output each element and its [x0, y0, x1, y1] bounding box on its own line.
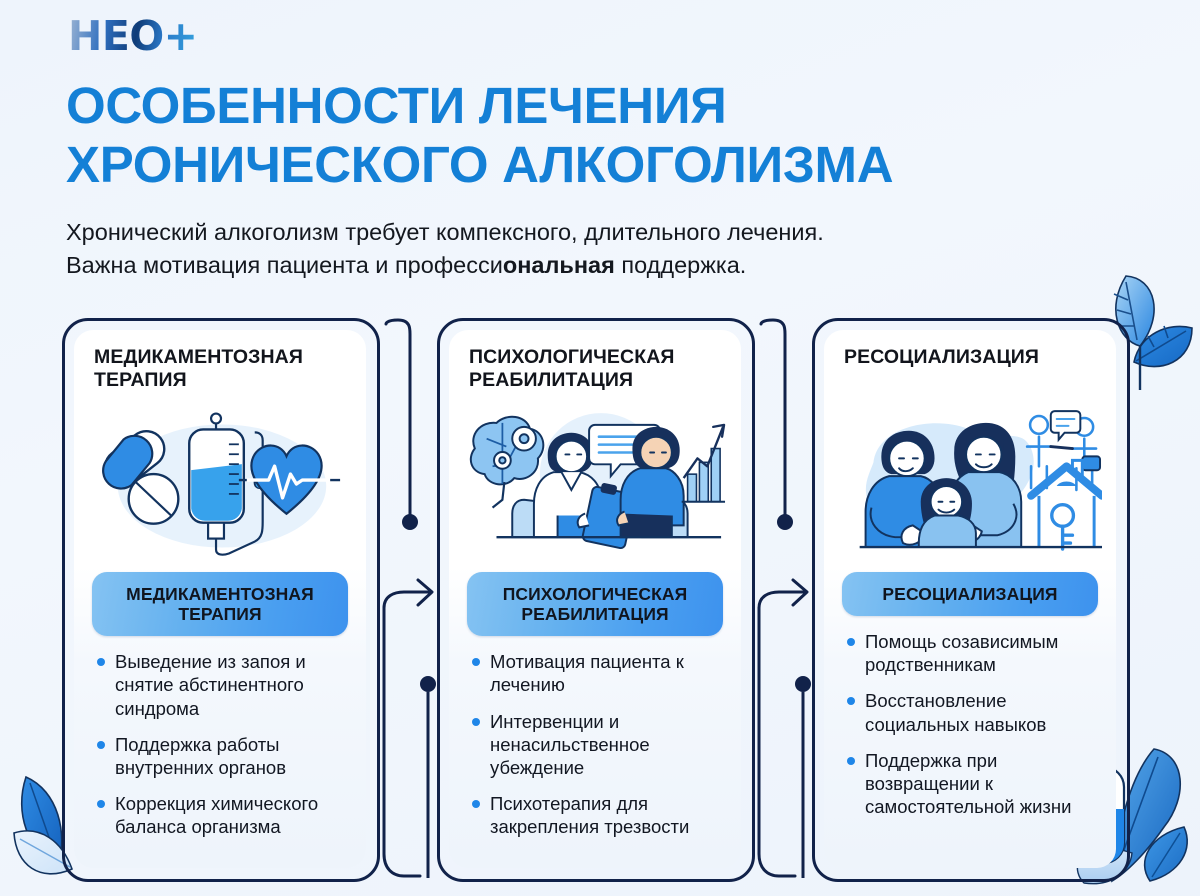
connector-card1-to-card2	[380, 318, 440, 887]
medication-illustration	[88, 404, 352, 564]
resocialization-illustration	[838, 404, 1102, 564]
infographic-page: НЕО+ ОСОБЕННОСТИ ЛЕЧЕНИЯ ХРОНИЧЕСКОГО АЛ…	[0, 0, 1200, 896]
card-bullet-list: Мотивация пациента к лечению Интервенции…	[463, 650, 727, 851]
brain-gears-icon	[471, 417, 544, 508]
growth-chart-icon	[682, 425, 725, 502]
page-title: ОСОБЕННОСТИ ЛЕЧЕНИЯ ХРОНИЧЕСКОГО АЛКОГОЛ…	[66, 76, 1136, 194]
card-badge[interactable]: ПСИХОЛОГИЧЕСКАЯ РЕАБИЛИТАЦИЯ	[467, 572, 723, 636]
card-inner-panel: РЕСОЦИАЛИЗАЦИЯ	[824, 330, 1116, 868]
card-heading: ПСИХОЛОГИЧЕСКАЯ РЕАБИЛИТАЦИЯ	[463, 346, 727, 394]
stage-card-resocialization[interactable]: РЕСОЦИАЛИЗАЦИЯ	[812, 318, 1130, 882]
card-badge[interactable]: РЕСОЦИАЛИЗАЦИЯ	[842, 572, 1098, 616]
arrow-right-icon	[755, 318, 815, 882]
list-item: Интервенции и ненасильственное убеждение	[471, 710, 723, 779]
card-heading: МЕДИКАМЕНТОЗНАЯ ТЕРАПИЯ	[88, 346, 352, 394]
list-item: Поддержка при возвращении к самостоятель…	[846, 749, 1098, 818]
list-item: Коррекция химического баланса организма	[96, 792, 348, 838]
list-item: Восстановление социальных навыков	[846, 689, 1098, 735]
page-subtitle: Хронический алкоголизм требует компексно…	[66, 216, 1126, 283]
list-item: Выведение из запоя и снятие абстинентног…	[96, 650, 348, 719]
psychological-illustration	[463, 404, 727, 564]
stage-card-psychological[interactable]: ПСИХОЛОГИЧЕСКАЯ РЕАБИЛИТАЦИЯ	[437, 318, 755, 882]
card-heading: РЕСОЦИАЛИЗАЦИЯ	[838, 346, 1102, 394]
card-bullet-list: Помощь созависимым родственникам Восстан…	[838, 630, 1102, 831]
subtitle-line-1: Хронический алкоголизм требует компексно…	[66, 219, 824, 245]
arrow-right-icon	[380, 318, 440, 882]
subtitle-line-2-b: поддержка.	[615, 252, 747, 278]
subtitle-emphasis: ональная	[503, 252, 615, 278]
card-inner-panel: МЕДИКАМЕНТОЗНАЯ ТЕРАПИЯ	[74, 330, 366, 868]
list-item: Поддержка работы внутренних органов	[96, 733, 348, 779]
card-bullet-list: Выведение из запоя и снятие абстинентног…	[88, 650, 352, 851]
stage-card-medication[interactable]: МЕДИКАМЕНТОЗНАЯ ТЕРАПИЯ	[62, 318, 380, 882]
list-item: Психотерапия для закрепления трезвости	[471, 792, 723, 838]
handshake-people-icon	[1027, 411, 1100, 490]
page-title-line-2: ХРОНИЧЕСКОГО АЛКОГОЛИЗМА	[66, 135, 1136, 194]
page-title-line-1: ОСОБЕННОСТИ ЛЕЧЕНИЯ	[66, 77, 727, 134]
illustration-resocialization	[838, 400, 1102, 568]
connector-card2-to-card3	[755, 318, 815, 887]
illustration-medication	[88, 400, 352, 568]
subtitle-line-2-a: Важна мотивация пациента и професси	[66, 252, 503, 278]
card-inner-panel: ПСИХОЛОГИЧЕСКАЯ РЕАБИЛИТАЦИЯ	[449, 330, 741, 868]
list-item: Помощь созависимым родственникам	[846, 630, 1098, 676]
card-badge[interactable]: МЕДИКАМЕНТОЗНАЯ ТЕРАПИЯ	[92, 572, 348, 636]
list-item: Мотивация пациента к лечению	[471, 650, 723, 696]
round-tablet-icon	[129, 474, 179, 524]
brand-logo: НЕО+	[68, 16, 198, 57]
illustration-psychological	[463, 400, 727, 568]
treatment-stages: МЕДИКАМЕНТОЗНАЯ ТЕРАПИЯ	[0, 318, 1200, 884]
